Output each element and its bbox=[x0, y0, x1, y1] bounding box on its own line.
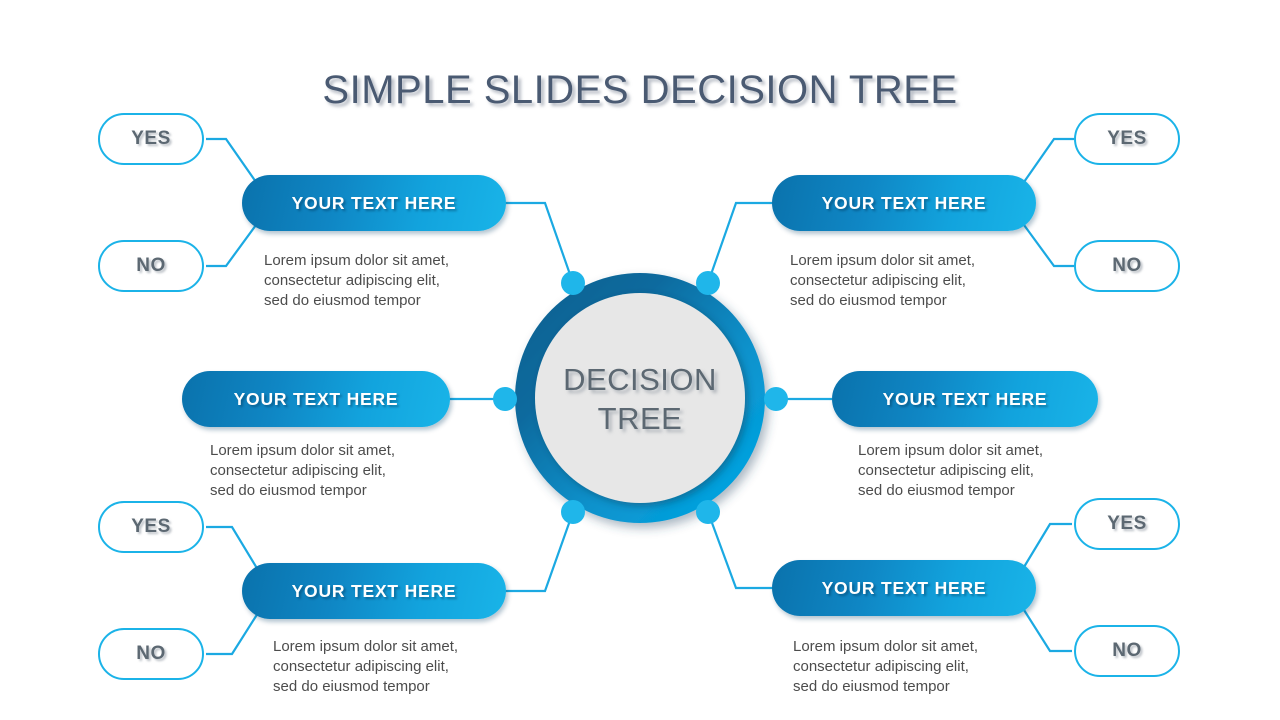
description-middle-left: Lorem ipsum dolor sit amet, consectetur … bbox=[210, 441, 460, 501]
description-bottom-right: Lorem ipsum dolor sit amet, consectetur … bbox=[793, 637, 1043, 697]
connector-bottom-right-hub bbox=[708, 512, 776, 588]
connector-bottom-left-no bbox=[206, 613, 258, 654]
description-bottom-left: Lorem ipsum dolor sit amet, consectetur … bbox=[273, 637, 523, 697]
node-middle-right[interactable]: YOUR TEXT HERE bbox=[832, 371, 1098, 427]
node-bottom-right[interactable]: YOUR TEXT HERE bbox=[772, 560, 1036, 616]
option-yes-top-right[interactable]: YES bbox=[1074, 113, 1180, 165]
connector-top-left-hub bbox=[505, 203, 573, 283]
connector-top-left-yes bbox=[206, 139, 256, 182]
hub-dot-middle-right[interactable] bbox=[764, 387, 788, 411]
connector-bottom-left-yes bbox=[206, 527, 258, 570]
node-middle-left[interactable]: YOUR TEXT HERE bbox=[182, 371, 450, 427]
option-yes-bottom-right[interactable]: YES bbox=[1074, 498, 1180, 550]
connector-bottom-right-yes bbox=[1024, 524, 1072, 567]
option-no-bottom-left[interactable]: NO bbox=[98, 628, 204, 680]
connector-bottom-left-hub bbox=[505, 512, 573, 591]
connector-top-right-yes bbox=[1024, 139, 1074, 182]
hub-dot-top-left[interactable] bbox=[561, 271, 585, 295]
option-no-bottom-right[interactable]: NO bbox=[1074, 625, 1180, 677]
option-yes-bottom-left[interactable]: YES bbox=[98, 501, 204, 553]
option-no-top-left[interactable]: NO bbox=[98, 240, 204, 292]
hub-dot-middle-left[interactable] bbox=[493, 387, 517, 411]
description-middle-right: Lorem ipsum dolor sit amet, consectetur … bbox=[858, 441, 1108, 501]
connector-top-left-no bbox=[206, 225, 256, 266]
hub-label: DECISION TREE bbox=[525, 360, 755, 438]
node-top-left[interactable]: YOUR TEXT HERE bbox=[242, 175, 506, 231]
option-yes-top-left[interactable]: YES bbox=[98, 113, 204, 165]
hub-dot-top-right[interactable] bbox=[696, 271, 720, 295]
slide-canvas: SIMPLE SLIDES DECISION TREE DECISION TRE… bbox=[0, 0, 1280, 720]
hub-dot-bottom-right[interactable] bbox=[696, 500, 720, 524]
description-top-left: Lorem ipsum dolor sit amet, consectetur … bbox=[264, 251, 514, 311]
node-top-right[interactable]: YOUR TEXT HERE bbox=[772, 175, 1036, 231]
connector-top-right-hub bbox=[708, 203, 776, 283]
description-top-right: Lorem ipsum dolor sit amet, consectetur … bbox=[790, 251, 1040, 311]
page-title: SIMPLE SLIDES DECISION TREE bbox=[0, 68, 1280, 113]
option-no-top-right[interactable]: NO bbox=[1074, 240, 1180, 292]
node-bottom-left[interactable]: YOUR TEXT HERE bbox=[242, 563, 506, 619]
hub-dot-bottom-left[interactable] bbox=[561, 500, 585, 524]
